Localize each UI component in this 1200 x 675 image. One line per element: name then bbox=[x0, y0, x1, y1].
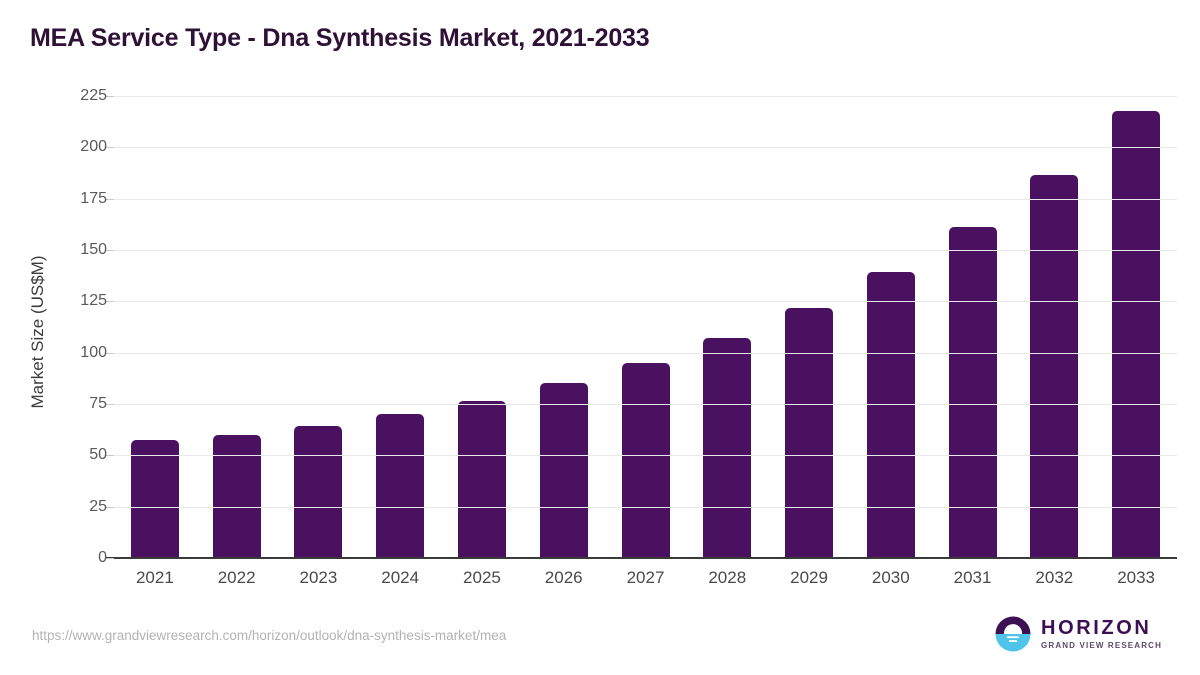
x-tick-label: 2026 bbox=[545, 568, 583, 588]
bars-layer bbox=[114, 96, 1177, 558]
x-tick-label: 2031 bbox=[954, 568, 992, 588]
x-tick-label: 2021 bbox=[136, 568, 174, 588]
gridline bbox=[114, 507, 1177, 508]
horizon-logo-subtitle: GRAND VIEW RESEARCH bbox=[1041, 642, 1162, 650]
y-tick-mark bbox=[106, 558, 114, 559]
x-tick-label: 2022 bbox=[218, 568, 256, 588]
bar[interactable] bbox=[131, 440, 179, 558]
horizon-logo-icon bbox=[994, 615, 1032, 653]
y-tick-label: 200 bbox=[47, 138, 107, 156]
y-tick-mark bbox=[106, 353, 114, 354]
gridline bbox=[114, 301, 1177, 302]
y-tick-label: 125 bbox=[47, 292, 107, 310]
source-url[interactable]: https://www.grandviewresearch.com/horizo… bbox=[32, 628, 506, 643]
x-tick-label: 2033 bbox=[1117, 568, 1155, 588]
y-tick-mark bbox=[106, 96, 114, 97]
x-tick-label: 2027 bbox=[627, 568, 665, 588]
y-tick-label: 75 bbox=[47, 395, 107, 413]
chart-canvas: Market Size (US$M) 025507510012515017520… bbox=[0, 0, 1200, 675]
x-axis-line bbox=[106, 557, 1177, 559]
bar[interactable] bbox=[294, 426, 342, 558]
y-tick-label: 225 bbox=[47, 87, 107, 105]
bar[interactable] bbox=[703, 338, 751, 558]
bar[interactable] bbox=[376, 414, 424, 558]
bar[interactable] bbox=[622, 363, 670, 558]
y-tick-mark bbox=[106, 507, 114, 508]
y-axis-title: Market Size (US$M) bbox=[28, 172, 48, 492]
gridline bbox=[114, 147, 1177, 148]
y-tick-label: 175 bbox=[47, 190, 107, 208]
chart-card: MEA Service Type - Dna Synthesis Market,… bbox=[0, 0, 1200, 675]
y-tick-label: 50 bbox=[47, 446, 107, 464]
x-tick-label: 2030 bbox=[872, 568, 910, 588]
y-tick-mark bbox=[106, 455, 114, 456]
y-tick-mark bbox=[106, 250, 114, 251]
x-tick-label: 2032 bbox=[1035, 568, 1073, 588]
y-tick-mark bbox=[106, 404, 114, 405]
horizon-logo[interactable]: HORIZON GRAND VIEW RESEARCH bbox=[994, 615, 1162, 653]
y-tick-label: 150 bbox=[47, 241, 107, 259]
plot-area: 0255075100125150175200225 bbox=[114, 96, 1177, 558]
gridline bbox=[114, 96, 1177, 97]
gridline bbox=[114, 250, 1177, 251]
horizon-logo-text: HORIZON GRAND VIEW RESEARCH bbox=[1041, 618, 1162, 650]
x-tick-label: 2024 bbox=[381, 568, 419, 588]
x-tick-label: 2023 bbox=[300, 568, 338, 588]
bar[interactable] bbox=[867, 272, 915, 558]
y-tick-label: 100 bbox=[47, 344, 107, 362]
x-tick-label: 2028 bbox=[708, 568, 746, 588]
y-tick-mark bbox=[106, 199, 114, 200]
gridline bbox=[114, 353, 1177, 354]
bar[interactable] bbox=[458, 401, 506, 558]
x-axis-labels: 2021202220232024202520262027202820292030… bbox=[114, 568, 1177, 596]
bar[interactable] bbox=[1030, 175, 1078, 558]
bar[interactable] bbox=[785, 308, 833, 559]
bar[interactable] bbox=[1112, 111, 1160, 558]
bar[interactable] bbox=[540, 383, 588, 558]
bar[interactable] bbox=[213, 435, 261, 558]
y-tick-mark bbox=[106, 147, 114, 148]
horizon-logo-word: HORIZON bbox=[1041, 618, 1162, 638]
y-tick-mark bbox=[106, 301, 114, 302]
bar[interactable] bbox=[949, 227, 997, 558]
x-tick-label: 2029 bbox=[790, 568, 828, 588]
y-tick-label: 25 bbox=[47, 498, 107, 516]
gridline bbox=[114, 455, 1177, 456]
x-tick-label: 2025 bbox=[463, 568, 501, 588]
y-tick-label: 0 bbox=[47, 549, 107, 567]
gridline bbox=[114, 404, 1177, 405]
gridline bbox=[114, 199, 1177, 200]
